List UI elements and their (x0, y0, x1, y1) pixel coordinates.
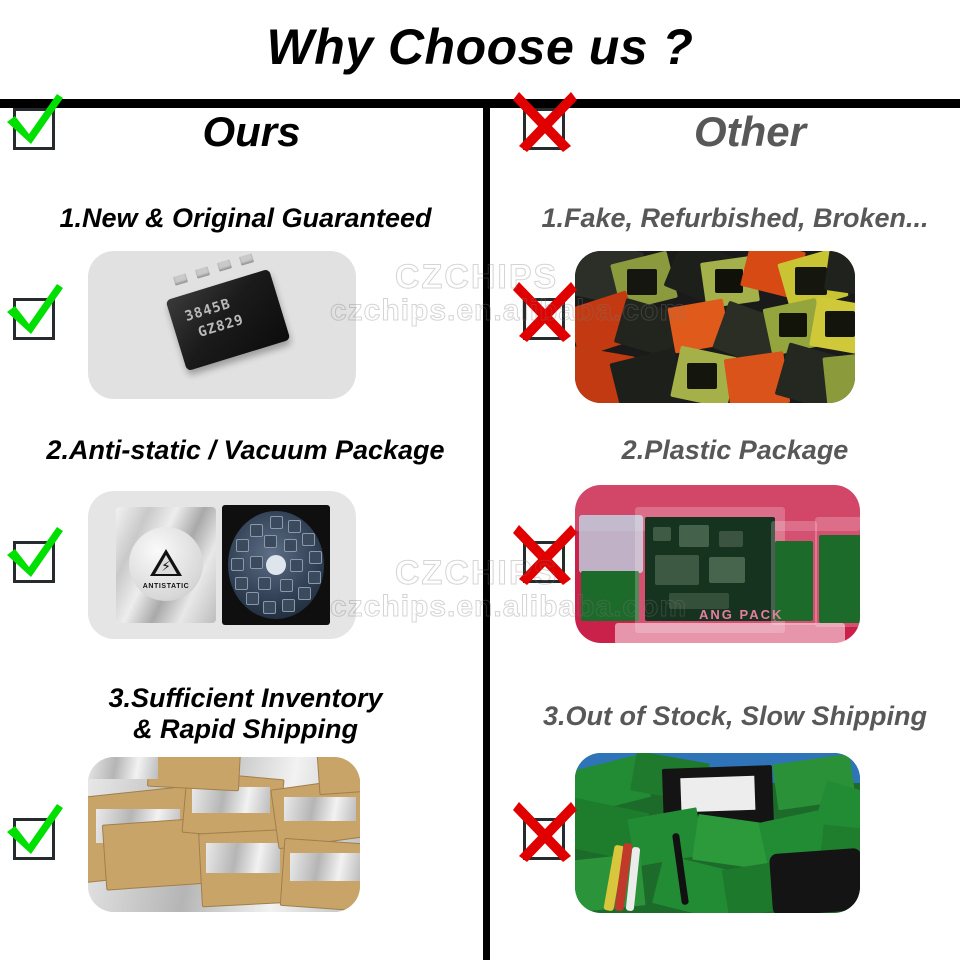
antistatic-disc: ⚡ ANTISTATIC (129, 527, 203, 601)
photo-other-out-of-stock (575, 753, 860, 913)
tape-reel (228, 511, 324, 619)
antistatic-bag-label: ANTISTATIC (129, 583, 203, 590)
photo-other-fake-broken (575, 251, 855, 403)
item-caption-other-2: 2.Plastic Package (490, 435, 960, 466)
check-glyph (1, 521, 71, 591)
cross-mark-icon (515, 98, 573, 156)
cross-glyph (511, 798, 581, 868)
item-caption-other-3: 3.Out of Stock, Slow Shipping (490, 701, 960, 732)
photo-ours-new-original: 3845B GZ829 (88, 251, 356, 399)
column-heading-ours: Ours (0, 111, 483, 153)
cross-glyph (511, 521, 581, 591)
cross-mark-icon (515, 288, 573, 346)
lightning-bolt-icon: ⚡ (161, 559, 171, 573)
cross-mark-icon (515, 531, 573, 589)
cross-glyph (511, 278, 581, 348)
check-mark-icon (5, 98, 63, 156)
item-caption-ours-3-line1: 3.Sufficient Inventory (14, 683, 477, 714)
item-caption-ours-2: 2.Anti-static / Vacuum Package (0, 435, 483, 466)
plastic-bag-print: ANG PACK (699, 607, 783, 622)
tape-reel-case (222, 505, 330, 625)
column-other: Other 1.Fake, Refurbished, Broken... (490, 103, 960, 960)
item-caption-ours-3: 3.Sufficient Inventory & Rapid Shipping (0, 683, 483, 744)
check-glyph (1, 88, 71, 158)
item-caption-ours-1: 1.New & Original Guaranteed (0, 203, 483, 234)
cross-mark-icon (515, 808, 573, 866)
column-divider (483, 103, 490, 960)
cross-glyph (511, 88, 581, 158)
item-caption-ours-3-line2: & Rapid Shipping (14, 714, 477, 745)
column-ours: Ours 1.New & Original Guaranteed 3845B (0, 103, 483, 960)
photo-other-plastic-package: ANG PACK (575, 485, 860, 643)
item-caption-other-1: 1.Fake, Refurbished, Broken... (490, 203, 960, 234)
check-mark-icon (5, 531, 63, 589)
module-label (680, 776, 755, 813)
reel-hub (266, 555, 286, 575)
page-title: Why Choose us ? (0, 22, 960, 72)
antistatic-bag: ⚡ ANTISTATIC (116, 507, 216, 623)
check-mark-icon (5, 808, 63, 866)
check-mark-icon (5, 288, 63, 346)
check-glyph (1, 278, 71, 348)
check-glyph (1, 798, 71, 868)
chip-photo-stage: 3845B GZ829 (88, 251, 356, 399)
why-choose-us-poster: Why Choose us ? Ours 1.New & Original Gu… (0, 0, 960, 960)
photo-ours-antistatic-package: ⚡ ANTISTATIC (88, 491, 356, 639)
photo-ours-inventory-shipping (88, 757, 360, 912)
chip-body: 3845B GZ829 (166, 269, 291, 371)
